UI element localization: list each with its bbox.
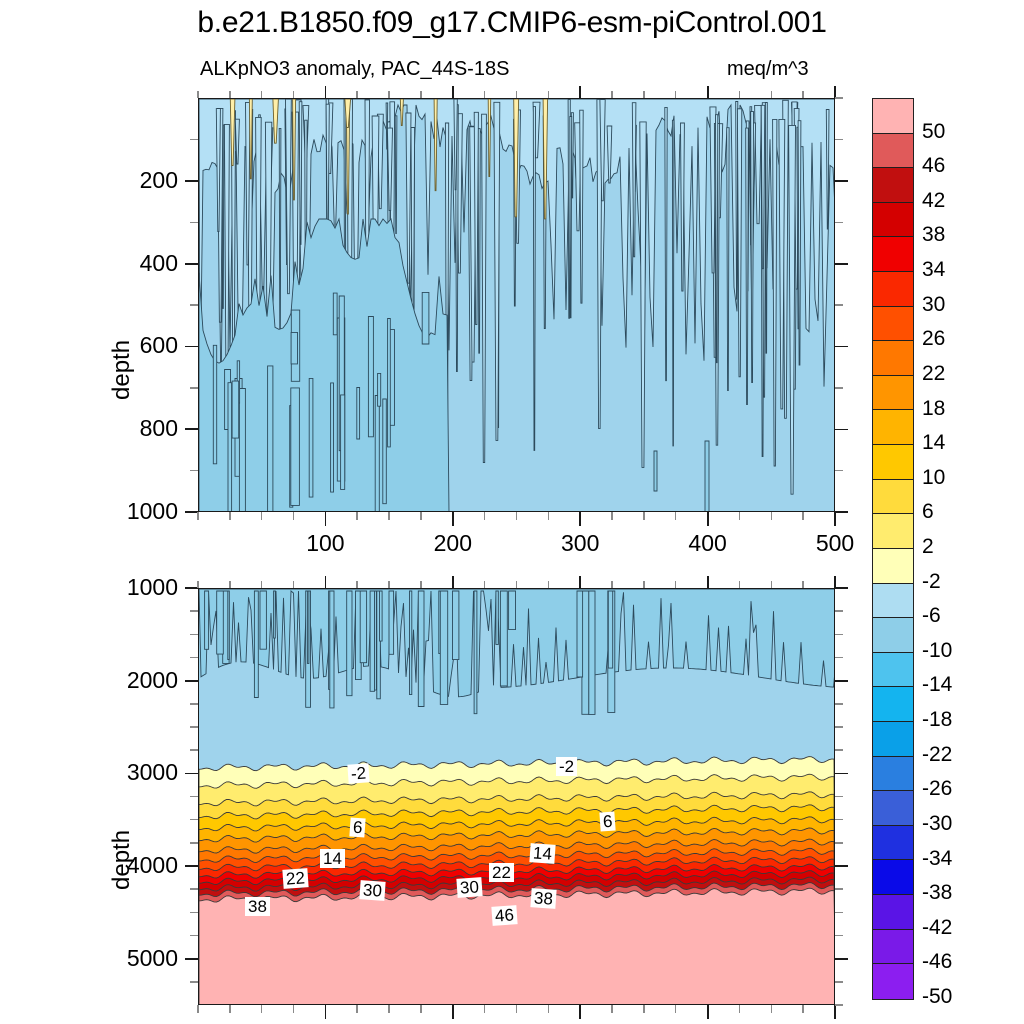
y-tick-minor [190, 842, 198, 844]
y-tick-major [185, 773, 198, 775]
x-tick-minor-top [293, 91, 295, 98]
x-tick-minor-top [611, 91, 613, 98]
y-tick-label: 200 [86, 167, 178, 194]
y-tick-minor-right [835, 819, 843, 821]
x-tick-minor [293, 1005, 295, 1013]
colorbar-swatch [873, 791, 913, 826]
lower-depth-panel [198, 588, 835, 1005]
contour-label: 6 [349, 817, 366, 837]
y-tick-minor [190, 304, 198, 306]
x-tick-minor-top [548, 91, 550, 98]
y-tick-major-right [835, 346, 848, 348]
y-tick-minor [190, 387, 198, 389]
colorbar-swatch [873, 237, 913, 272]
x-tick-minor-top [516, 581, 518, 588]
y-tick-minor-right [835, 935, 843, 937]
y-tick-minor-right [835, 888, 843, 890]
x-tick-label: 100 [285, 530, 365, 557]
x-tick-minor [548, 1005, 550, 1013]
x-tick-minor-top [484, 581, 486, 588]
upper-depth-panel [198, 98, 835, 512]
contour-label: 14 [320, 849, 345, 868]
x-tick-minor [388, 1005, 390, 1013]
y-tick-minor-right [835, 796, 843, 798]
colorbar-swatch [873, 376, 913, 411]
x-tick-major [325, 512, 327, 526]
y-tick-label: 5000 [86, 945, 178, 972]
colorbar-tick-label: 42 [922, 189, 1012, 213]
x-tick-minor [197, 512, 199, 520]
y-tick-major-right [835, 865, 848, 867]
x-tick-minor [420, 512, 422, 520]
x-tick-minor-top [771, 91, 773, 98]
x-tick-minor-top [802, 91, 804, 98]
x-tick-major-top [452, 86, 454, 98]
x-tick-major-top [325, 576, 327, 588]
y-tick-minor [190, 726, 198, 728]
y-tick-minor [190, 796, 198, 798]
colorbar-tick-label: 22 [922, 362, 1012, 386]
y-tick-minor-right [835, 139, 843, 141]
y-tick-label: 1000 [86, 498, 178, 525]
contour-label: 38 [530, 888, 556, 909]
y-tick-minor [190, 819, 198, 821]
colorbar-tick-label: 26 [922, 327, 1012, 351]
y-tick-major-right [835, 263, 848, 265]
colorbar-tick-label: -18 [922, 708, 1012, 732]
x-tick-minor [356, 1005, 358, 1013]
x-tick-major [325, 1005, 327, 1019]
x-tick-minor [771, 512, 773, 520]
x-tick-label: 200 [413, 530, 493, 557]
x-tick-minor [611, 512, 613, 520]
y-tick-major-right [835, 429, 848, 431]
colorbar-tick-label: -10 [922, 639, 1012, 663]
y-tick-major-right [835, 587, 848, 589]
y-tick-minor-right [835, 749, 843, 751]
x-tick-minor [548, 512, 550, 520]
x-tick-minor [739, 512, 741, 520]
colorbar-swatch [873, 514, 913, 549]
x-tick-minor-top [293, 581, 295, 588]
x-tick-minor [675, 1005, 677, 1013]
x-tick-major-top [579, 576, 581, 588]
contour-label: 30 [456, 877, 482, 898]
y-tick-label: 3000 [86, 759, 178, 786]
y-tick-minor-right [835, 222, 843, 224]
y-tick-minor [190, 935, 198, 937]
colorbar-swatch [873, 722, 913, 757]
colorbar-swatch [873, 307, 913, 342]
x-tick-minor [293, 512, 295, 520]
y-tick-major-right [835, 773, 848, 775]
x-tick-minor-top [675, 581, 677, 588]
x-tick-major [452, 1005, 454, 1019]
x-tick-minor-top [484, 91, 486, 98]
y-tick-minor [190, 981, 198, 983]
y-tick-major-right [835, 180, 848, 182]
x-tick-minor [229, 1005, 231, 1013]
colorbar-swatch [873, 410, 913, 445]
y-tick-minor-right [835, 842, 843, 844]
colorbar-tick-label: -22 [922, 743, 1012, 767]
y-tick-major [185, 587, 198, 589]
y-tick-minor-right [835, 634, 843, 636]
x-tick-minor [516, 512, 518, 520]
x-tick-major [579, 512, 581, 526]
x-tick-minor-top [388, 91, 390, 98]
x-tick-major [707, 1005, 709, 1019]
y-tick-minor-right [835, 470, 843, 472]
y-tick-label: 1000 [86, 574, 178, 601]
x-tick-minor [675, 512, 677, 520]
x-tick-minor-top [739, 91, 741, 98]
colorbar-tick-label: -2 [922, 570, 1012, 594]
y-tick-label: 800 [86, 415, 178, 442]
colorbar-tick-label: 14 [922, 431, 1012, 455]
contour-label: 22 [282, 868, 308, 889]
y-tick-minor-right [835, 97, 843, 99]
x-tick-minor [484, 512, 486, 520]
x-tick-minor-top [675, 91, 677, 98]
x-tick-major [834, 512, 836, 526]
contour-label: 6 [599, 811, 616, 831]
colorbar-tick-label: 38 [922, 223, 1012, 247]
x-tick-major-top [834, 86, 836, 98]
contour-label: 46 [491, 905, 517, 926]
y-tick-major-right [835, 680, 848, 682]
y-tick-minor-right [835, 981, 843, 983]
y-tick-major [185, 958, 198, 960]
x-tick-minor-top [261, 581, 263, 588]
y-tick-major [185, 180, 198, 182]
y-tick-minor-right [835, 304, 843, 306]
x-tick-minor-top [643, 581, 645, 588]
y-tick-minor [190, 749, 198, 751]
x-tick-minor-top [197, 91, 199, 98]
colorbar-tick-label: -34 [922, 847, 1012, 871]
x-tick-minor-top [229, 581, 231, 588]
y-tick-minor [190, 912, 198, 914]
x-tick-minor [739, 1005, 741, 1013]
y-tick-label: 400 [86, 250, 178, 277]
contour-label: 14 [529, 843, 555, 864]
x-tick-major [579, 1005, 581, 1019]
y-tick-major [185, 865, 198, 867]
y-tick-minor [190, 610, 198, 612]
x-tick-minor-top [197, 581, 199, 588]
y-tick-minor-right [835, 657, 843, 659]
y-tick-major [185, 511, 198, 513]
x-tick-label: 400 [668, 530, 748, 557]
x-tick-major [452, 512, 454, 526]
x-tick-major-top [707, 576, 709, 588]
colorbar-tick-label: 18 [922, 397, 1012, 421]
colorbar-swatch [873, 895, 913, 930]
colorbar-swatch [873, 341, 913, 376]
x-tick-minor [197, 1005, 199, 1013]
colorbar-tick-label: -42 [922, 916, 1012, 940]
lower-panel-contours [199, 589, 835, 1005]
x-tick-major-top [834, 576, 836, 588]
colorbar-swatch [873, 618, 913, 653]
colorbar-tick-label: 2 [922, 535, 1012, 559]
x-tick-minor [356, 512, 358, 520]
y-tick-major [185, 680, 198, 682]
colorbar-swatch [873, 757, 913, 792]
x-tick-minor-top [611, 581, 613, 588]
x-tick-minor-top [420, 581, 422, 588]
y-tick-minor-right [835, 703, 843, 705]
colorbar-swatch [873, 549, 913, 584]
y-tick-major [185, 428, 198, 430]
colorbar-tick-label: 50 [922, 120, 1012, 144]
x-tick-minor [388, 512, 390, 520]
x-tick-minor-top [229, 91, 231, 98]
x-tick-major-top [325, 86, 327, 98]
colorbar-tick-label: -38 [922, 881, 1012, 905]
colorbar-swatch [873, 584, 913, 619]
x-tick-minor [261, 1005, 263, 1013]
colorbar-swatch [873, 860, 913, 895]
contour-label: 38 [245, 897, 270, 916]
colorbar-swatch [873, 134, 913, 169]
colorbar-tick-label: -30 [922, 812, 1012, 836]
colorbar-swatch [873, 653, 913, 688]
x-tick-major [834, 1005, 836, 1019]
colorbar-tick-label: -50 [922, 985, 1012, 1009]
y-tick-label: 4000 [86, 852, 178, 879]
colorbar-swatch [873, 826, 913, 861]
y-tick-major-right [835, 511, 848, 513]
x-tick-major-top [452, 576, 454, 588]
y-tick-minor-right [835, 387, 843, 389]
colorbar-tick-label: -14 [922, 673, 1012, 697]
colorbar-tick-label: 46 [922, 154, 1012, 178]
x-tick-minor [229, 512, 231, 520]
x-tick-minor [802, 512, 804, 520]
colorbar-tick-label: 30 [922, 293, 1012, 317]
colorbar-swatch [873, 480, 913, 515]
colorbar-tick-label: -6 [922, 604, 1012, 628]
x-tick-minor [611, 1005, 613, 1013]
page-title: b.e21.B1850.f09_g17.CMIP6-esm-piControl.… [0, 6, 1024, 40]
colorbar-swatch [873, 168, 913, 203]
x-tick-label: 500 [795, 530, 875, 557]
colorbar-swatch [873, 687, 913, 722]
x-tick-minor [802, 1005, 804, 1013]
x-tick-minor-top [388, 581, 390, 588]
x-tick-minor [643, 512, 645, 520]
x-tick-minor-top [261, 91, 263, 98]
colorbar-tick-label: 10 [922, 466, 1012, 490]
x-tick-minor [484, 1005, 486, 1013]
contour-label: 22 [489, 863, 514, 882]
y-tick-minor [190, 470, 198, 472]
y-tick-minor-right [835, 610, 843, 612]
x-tick-minor-top [356, 581, 358, 588]
x-tick-minor-top [739, 581, 741, 588]
upper-panel-contours [199, 99, 835, 512]
colorbar[interactable] [872, 98, 914, 1000]
units-label: meq/m^3 [727, 58, 809, 81]
colorbar-swatch [873, 964, 913, 999]
colorbar-tick-label: -46 [922, 950, 1012, 974]
contour-label: 30 [359, 880, 385, 901]
y-tick-minor [190, 657, 198, 659]
y-tick-minor-right [835, 1004, 843, 1006]
x-tick-major [707, 512, 709, 526]
y-tick-minor [190, 222, 198, 224]
colorbar-tick-label: -26 [922, 777, 1012, 801]
x-tick-minor [420, 1005, 422, 1013]
x-tick-minor [643, 1005, 645, 1013]
x-tick-major-top [707, 86, 709, 98]
y-tick-minor [190, 888, 198, 890]
y-tick-minor [190, 703, 198, 705]
y-tick-minor-right [835, 726, 843, 728]
x-tick-label: 300 [540, 530, 620, 557]
x-tick-minor-top [356, 91, 358, 98]
colorbar-swatch [873, 445, 913, 480]
y-tick-major-right [835, 958, 848, 960]
x-tick-minor-top [516, 91, 518, 98]
x-tick-minor-top [548, 581, 550, 588]
x-tick-minor [771, 1005, 773, 1013]
x-tick-minor-top [643, 91, 645, 98]
x-tick-major-top [579, 86, 581, 98]
plot-subtitle: ALKpNO3 anomaly, PAC_44S-18S [200, 58, 509, 81]
x-tick-minor-top [802, 581, 804, 588]
colorbar-swatch [873, 930, 913, 965]
y-tick-major [185, 263, 198, 265]
x-tick-minor [261, 512, 263, 520]
x-tick-minor-top [420, 91, 422, 98]
colorbar-swatch [873, 99, 913, 134]
y-tick-minor-right [835, 912, 843, 914]
x-tick-minor-top [771, 581, 773, 588]
x-tick-minor [516, 1005, 518, 1013]
colorbar-swatch [873, 272, 913, 307]
colorbar-tick-label: 34 [922, 258, 1012, 282]
y-tick-minor [190, 634, 198, 636]
y-tick-minor [190, 139, 198, 141]
colorbar-swatch [873, 203, 913, 238]
contour-label: -2 [347, 763, 369, 783]
y-tick-label: 600 [86, 332, 178, 359]
y-tick-label: 2000 [86, 667, 178, 694]
colorbar-tick-label: 6 [922, 500, 1012, 524]
contour-label: -2 [556, 757, 577, 776]
y-tick-major [185, 346, 198, 348]
